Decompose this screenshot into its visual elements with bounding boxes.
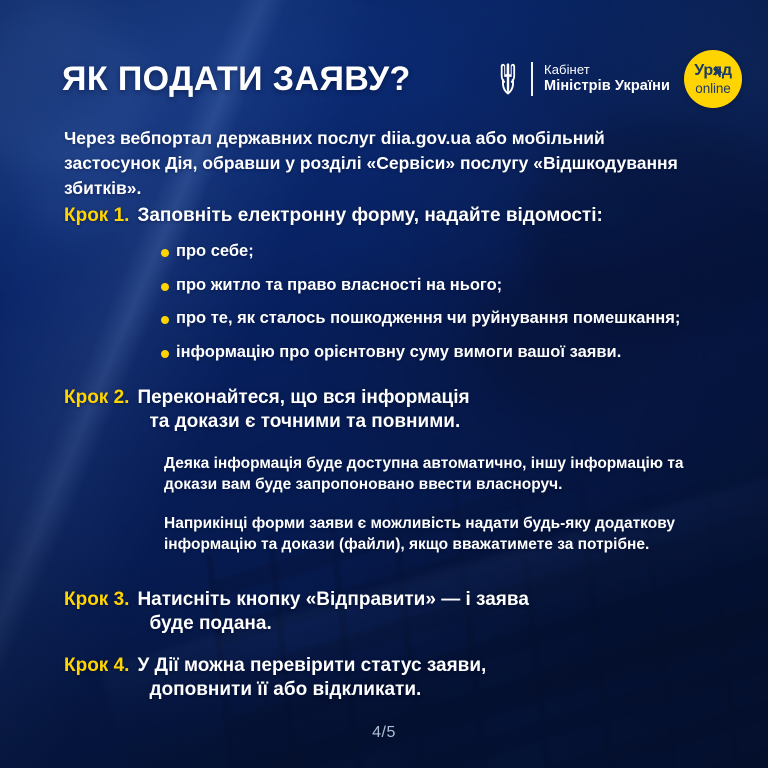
cursor-pointer-icon bbox=[714, 65, 725, 78]
step-1-label: Крок 1. bbox=[64, 204, 129, 228]
intro-paragraph: Через вебпортал державних послуг diia.go… bbox=[64, 126, 704, 201]
uryad-badge-top-text: Уряд bbox=[694, 63, 732, 79]
bullet-dot-icon bbox=[161, 283, 169, 291]
step-1-block: Крок 1. Заповніть електронну форму, нада… bbox=[64, 204, 736, 363]
step-4-title-line: доповнити її або відкликати. bbox=[137, 678, 486, 702]
step-2-block: Крок 2. Переконайтеся, що вся інформація… bbox=[64, 386, 736, 555]
page-indicator: 4/5 bbox=[0, 724, 768, 742]
step-4-heading: Крок 4. У Дії можна перевірити статус за… bbox=[64, 654, 736, 703]
step-3-title-line: Натисніть кнопку «Відправити» — і заява bbox=[137, 588, 528, 612]
brand-lockup: Кабінет Міністрів України Уряд online bbox=[496, 50, 742, 108]
ukraine-trident-icon bbox=[496, 62, 520, 96]
step-4-title-line: У Дії можна перевірити статус заяви, bbox=[137, 654, 486, 678]
cabinet-of-ministers-logo: Кабінет Міністрів України bbox=[496, 62, 670, 96]
list-item: про житло та право власності на нього; bbox=[64, 275, 736, 296]
step-1-title: Заповніть електронну форму, надайте відо… bbox=[137, 204, 602, 228]
list-item-label: про себе; bbox=[176, 242, 254, 260]
step-1-bullet-list: про себе; про житло та право власності н… bbox=[64, 241, 736, 363]
step-2-title-line: Переконайтеся, що вся інформація bbox=[137, 386, 469, 410]
list-item: про себе; bbox=[64, 241, 736, 262]
list-item-label: про те, як сталось пошкодження чи руйнув… bbox=[176, 309, 680, 327]
step-4-block: Крок 4. У Дії можна перевірити статус за… bbox=[64, 654, 736, 703]
list-item: про те, як сталось пошкодження чи руйнув… bbox=[64, 308, 736, 329]
slide-header: ЯК ПОДАТИ ЗАЯВУ? Кабінет Міні bbox=[62, 50, 742, 108]
bullet-dot-icon bbox=[161, 249, 169, 257]
infographic-slide: ЯК ПОДАТИ ЗАЯВУ? Кабінет Міні bbox=[0, 0, 768, 768]
step-2-title: Переконайтеся, що вся інформація та дока… bbox=[137, 386, 469, 435]
bullet-dot-icon bbox=[161, 316, 169, 324]
step-2-paragraph-1: Деяка інформація буде доступна автоматич… bbox=[164, 453, 704, 495]
uryad-badge-bottom-text: online bbox=[695, 82, 730, 96]
page-title: ЯК ПОДАТИ ЗАЯВУ? bbox=[62, 62, 411, 96]
step-3-title-line: буде подана. bbox=[137, 612, 528, 636]
step-4-label: Крок 4. bbox=[64, 654, 129, 678]
list-item: інформацію про орієнтовну суму вимоги ва… bbox=[64, 342, 736, 363]
cabinet-line-2: Міністрів України bbox=[544, 78, 670, 95]
step-3-label: Крок 3. bbox=[64, 588, 129, 612]
slide-content: ЯК ПОДАТИ ЗАЯВУ? Кабінет Міні bbox=[0, 0, 768, 768]
step-2-heading: Крок 2. Переконайтеся, що вся інформація… bbox=[64, 386, 736, 435]
list-item-label: інформацію про орієнтовну суму вимоги ва… bbox=[176, 343, 621, 361]
logo-divider bbox=[531, 62, 533, 96]
uryad-online-badge: Уряд online bbox=[684, 50, 742, 108]
step-2-title-line: та докази є точними та повними. bbox=[137, 410, 469, 434]
step-2-label: Крок 2. bbox=[64, 386, 129, 410]
step-2-paragraph-2: Наприкінці форми заяви є можливість нада… bbox=[164, 513, 704, 555]
step-3-title: Натисніть кнопку «Відправити» — і заява … bbox=[137, 588, 528, 637]
step-4-title: У Дії можна перевірити статус заяви, доп… bbox=[137, 654, 486, 703]
step-3-block: Крок 3. Натисніть кнопку «Відправити» — … bbox=[64, 588, 736, 637]
cabinet-of-ministers-wordmark: Кабінет Міністрів України bbox=[544, 63, 670, 94]
step-3-heading: Крок 3. Натисніть кнопку «Відправити» — … bbox=[64, 588, 736, 637]
step-1-heading: Крок 1. Заповніть електронну форму, нада… bbox=[64, 204, 736, 228]
cabinet-line-1: Кабінет bbox=[544, 63, 670, 78]
list-item-label: про житло та право власності на нього; bbox=[176, 276, 502, 294]
step-1-title-line: Заповніть електронну форму, надайте відо… bbox=[137, 204, 602, 228]
bullet-dot-icon bbox=[161, 350, 169, 358]
